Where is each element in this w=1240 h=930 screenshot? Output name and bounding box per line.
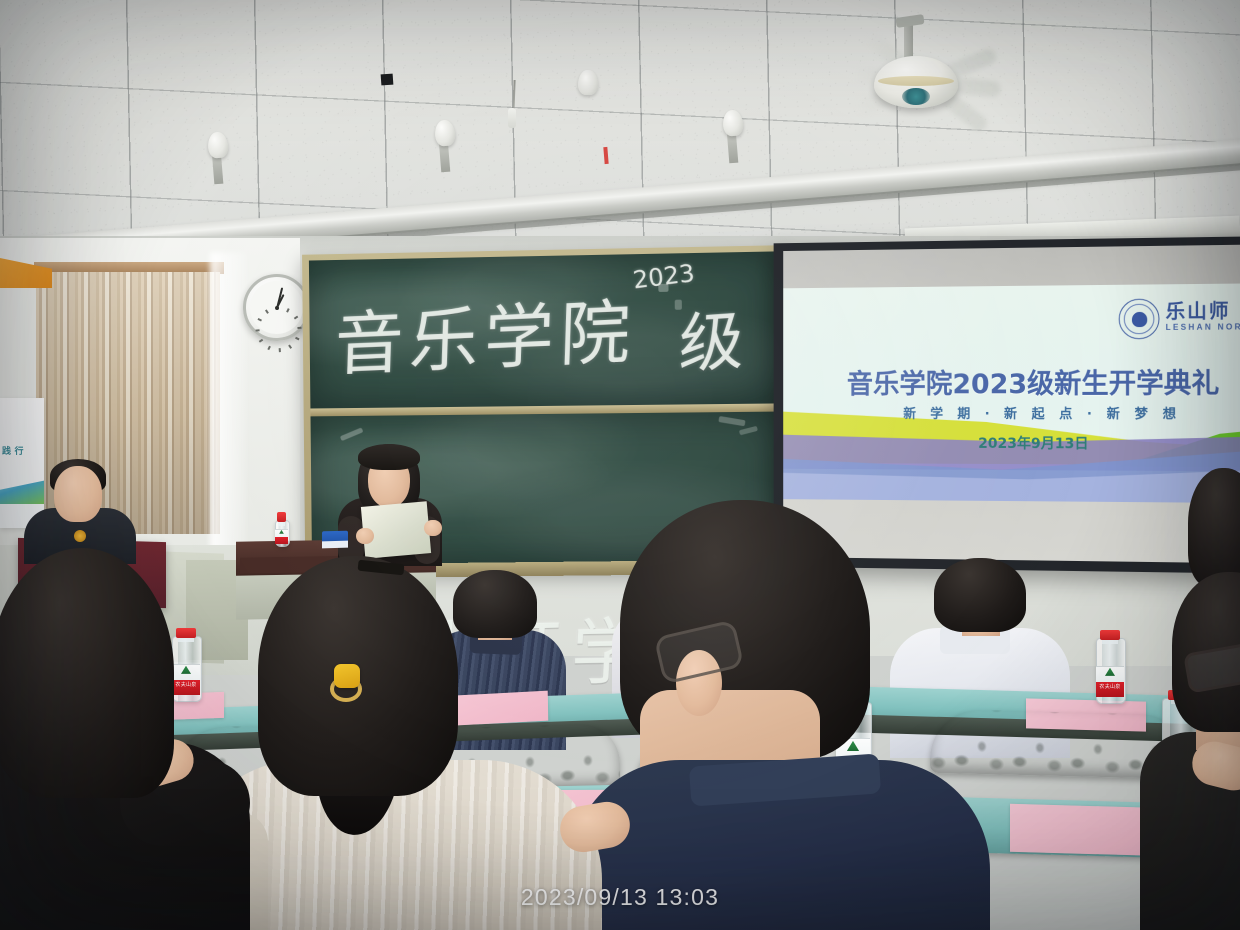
foreground-person-far-right-hair — [1188, 468, 1240, 588]
school-badge-icon — [74, 530, 86, 542]
audience-member-hair — [934, 558, 1026, 632]
bottle-brand-label: 农夫山泉 — [1096, 683, 1124, 690]
camera-timestamp: 2023/09/13 13:03 — [0, 884, 1240, 911]
water-bottle: 农夫山泉 — [1096, 630, 1124, 704]
projection-surface: 乐山师 LESHAN NOR 音乐学院2023级新生开学典礼 新 学 期 · 新… — [783, 245, 1240, 564]
hanging-fixture — [508, 108, 516, 128]
tissue-box-base — [322, 541, 348, 549]
ceiling-sensor-icon — [381, 74, 394, 86]
blackboard-line-1: 音乐学院 — [334, 276, 639, 390]
water-bottle — [275, 512, 288, 547]
sprinkler-head-icon — [578, 70, 598, 95]
photograph-canvas: 践 行 音乐学院 2023 级 — [0, 0, 1240, 930]
window-glare — [210, 252, 246, 552]
wall-poster-text: 践 行 — [2, 446, 44, 457]
projection-screen: 乐山师 LESHAN NOR 音乐学院2023级新生开学典礼 新 学 期 · 新… — [774, 237, 1240, 574]
speaker-fringe — [358, 444, 420, 470]
speaker-hand-left — [356, 528, 374, 544]
foreground-person-left-hair — [0, 548, 174, 798]
audience-member-hair — [453, 570, 537, 638]
screen-glare — [783, 245, 1240, 564]
yellow-hair-tie-icon — [334, 664, 360, 688]
clock-center — [274, 305, 278, 309]
blackboard-year: 2023 — [632, 269, 656, 291]
ceiling-fan-icon — [838, 18, 1014, 114]
blackboard-upper-panel: 音乐学院 2023 级 — [309, 251, 778, 408]
bottle-brand-label: 农夫山泉 — [172, 681, 200, 688]
wall-poster — [0, 398, 44, 528]
blackboard-grade-char: 级 — [677, 289, 746, 387]
speaker-hand-right — [424, 520, 442, 536]
water-bottle: 农夫山泉 — [172, 628, 200, 702]
clock-face — [248, 279, 305, 336]
person-at-lectern-head — [54, 466, 102, 522]
